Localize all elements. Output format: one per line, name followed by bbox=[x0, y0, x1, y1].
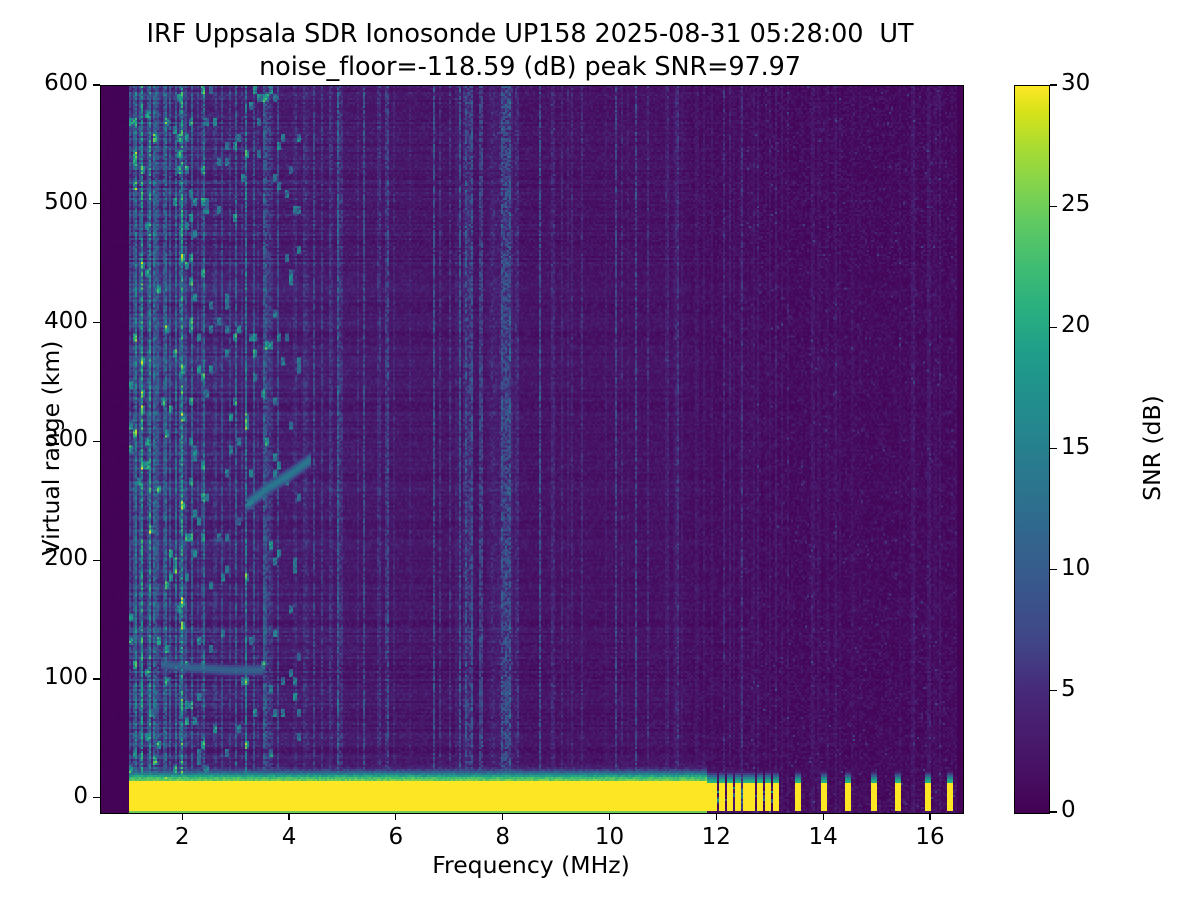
y-tick-mark bbox=[93, 678, 100, 679]
x-tick-mark bbox=[716, 813, 717, 820]
y-tick-label: 600 bbox=[44, 70, 88, 96]
x-tick-mark bbox=[182, 813, 183, 820]
colorbar-label: SNR (dB) bbox=[1138, 338, 1166, 558]
x-tick-mark bbox=[502, 813, 503, 820]
figure-title: IRF Uppsala SDR Ionosonde UP158 2025-08-… bbox=[0, 18, 1060, 83]
colorbar-tick-label: 30 bbox=[1061, 70, 1090, 96]
colorbar-tick-label: 20 bbox=[1061, 312, 1090, 338]
x-tick-label: 12 bbox=[686, 824, 746, 850]
y-tick-label: 0 bbox=[73, 783, 88, 809]
y-tick-mark bbox=[93, 203, 100, 204]
ionogram-plot-area[interactable] bbox=[100, 85, 964, 814]
title-line-secondary: noise_floor=-118.59 (dB) peak SNR=97.97 bbox=[0, 51, 1060, 84]
x-tick-mark bbox=[288, 813, 289, 820]
y-tick-mark bbox=[93, 441, 100, 442]
colorbar-gradient[interactable] bbox=[1014, 85, 1050, 814]
ionogram-figure: IRF Uppsala SDR Ionosonde UP158 2025-08-… bbox=[0, 0, 1200, 900]
y-tick-mark bbox=[93, 84, 100, 85]
x-tick-label: 4 bbox=[259, 824, 319, 850]
colorbar-tick-mark bbox=[1050, 690, 1057, 691]
x-tick-label: 14 bbox=[793, 824, 853, 850]
x-tick-mark bbox=[823, 813, 824, 820]
colorbar-tick-mark bbox=[1050, 811, 1057, 812]
y-tick-mark bbox=[93, 322, 100, 323]
x-tick-mark bbox=[395, 813, 396, 820]
colorbar-tick-mark bbox=[1050, 448, 1057, 449]
x-tick-label: 6 bbox=[366, 824, 426, 850]
colorbar-tick-mark bbox=[1050, 206, 1057, 207]
x-tick-label: 16 bbox=[900, 824, 960, 850]
colorbar-tick-mark bbox=[1050, 327, 1057, 328]
y-tick-label: 100 bbox=[44, 664, 88, 690]
x-tick-mark bbox=[929, 813, 930, 820]
ionogram-heatmap bbox=[101, 86, 963, 813]
x-tick-label: 10 bbox=[580, 824, 640, 850]
y-axis-label: Virtual range (km) bbox=[37, 318, 65, 578]
x-axis-label: Frequency (MHz) bbox=[100, 851, 962, 879]
y-tick-mark bbox=[93, 797, 100, 798]
x-tick-label: 8 bbox=[473, 824, 533, 850]
colorbar-tick-label: 5 bbox=[1061, 676, 1076, 702]
colorbar-tick-label: 10 bbox=[1061, 555, 1090, 581]
y-tick-label: 500 bbox=[44, 189, 88, 215]
x-tick-mark bbox=[609, 813, 610, 820]
colorbar-tick-label: 25 bbox=[1061, 191, 1090, 217]
colorbar-tick-label: 15 bbox=[1061, 434, 1090, 460]
colorbar-tick-mark bbox=[1050, 569, 1057, 570]
y-tick-mark bbox=[93, 560, 100, 561]
colorbar-tick-label: 0 bbox=[1061, 797, 1076, 823]
colorbar-tick-mark bbox=[1050, 84, 1057, 85]
title-line-primary: IRF Uppsala SDR Ionosonde UP158 2025-08-… bbox=[0, 18, 1060, 51]
x-tick-label: 2 bbox=[152, 824, 212, 850]
